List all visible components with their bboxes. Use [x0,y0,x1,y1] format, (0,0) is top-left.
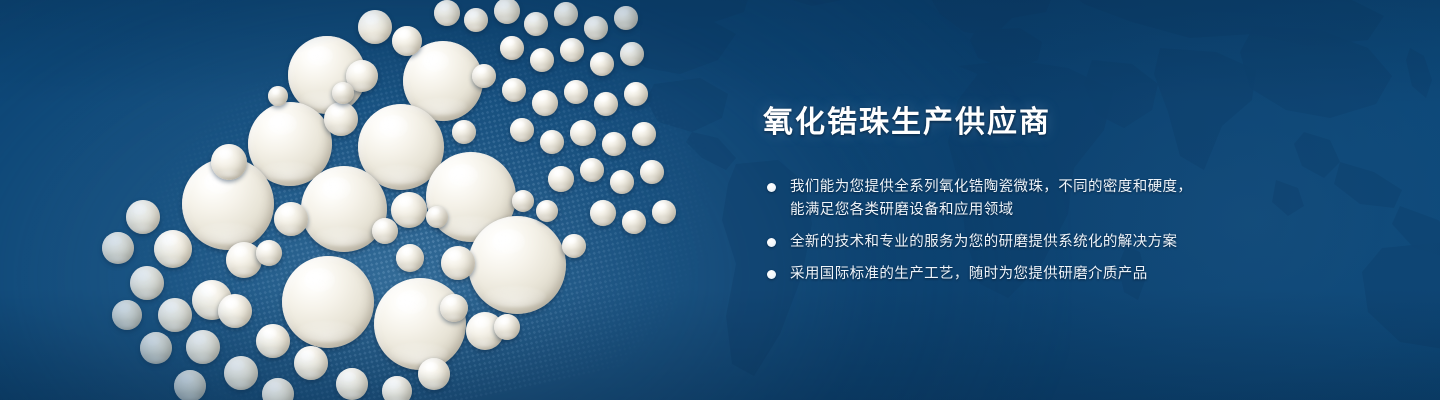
bead-medium [274,202,308,236]
bead-small [472,64,496,88]
bead-small [584,16,608,40]
bead-small [502,78,526,102]
bead-small [372,218,398,244]
list-item-line-1: 采用国际标准的生产工艺，随时为您提供研磨介质产品 [790,266,1148,282]
bead-small [256,240,282,266]
bead-small [294,346,328,380]
bead-small [512,190,534,212]
bead-small [594,92,618,116]
bead-small [560,38,584,62]
bead-medium [441,246,475,280]
bead-small [256,324,290,358]
bead-small [140,332,172,364]
bead-small [510,118,534,142]
bead-small [570,120,596,146]
bead-small [218,294,252,328]
bead-medium [392,26,422,56]
bead-small [540,130,564,154]
bead-medium [154,230,192,268]
bead-small [632,122,656,146]
bead-small [434,0,460,26]
bead-medium [324,102,358,136]
bead-small [564,80,588,104]
bead-small [590,52,614,76]
bead-small [268,86,288,106]
bead-small [112,300,142,330]
bead-small [158,298,192,332]
bead-small [620,42,644,66]
bead-small [186,330,220,364]
bead-cluster [96,0,756,400]
bead-small [500,36,524,60]
bead-small [174,370,206,400]
banner-copy: 氧化锆珠生产供应商 我们能为您提供全系列氧化锆陶瓷微珠，不同的密度和硬度， 能满… [763,104,1383,286]
bead-small [262,378,294,400]
bead-medium [358,10,392,44]
list-item: 全新的技术和专业的服务为您的研磨提供系统化的解决方案 [763,231,1383,254]
bead-small [548,166,574,192]
bead-small [562,234,586,258]
bead-small [536,200,558,222]
bead-small [130,266,164,300]
list-item-line-1: 全新的技术和专业的服务为您的研磨提供系统化的解决方案 [790,234,1177,250]
list-item: 我们能为您提供全系列氧化锆陶瓷微珠，不同的密度和硬度， 能满足您各类研磨设备和应… [763,176,1383,222]
bead-small [580,158,604,182]
bead-small [614,6,638,30]
bead-small [102,232,134,264]
bead-small [224,356,258,390]
bead-small [524,12,548,36]
bead-small [652,200,676,224]
bead-small [396,244,424,272]
bead-small [382,376,412,400]
bead-small [610,170,634,194]
bead-small [452,120,476,144]
feature-list: 我们能为您提供全系列氧化锆陶瓷微珠，不同的密度和硬度， 能满足您各类研磨设备和应… [763,176,1383,286]
bead-small [590,200,616,226]
list-item-line-1: 我们能为您提供全系列氧化锆陶瓷微珠，不同的密度和硬度， [790,179,1192,195]
bead-small [126,200,160,234]
list-item: 采用国际标准的生产工艺，随时为您提供研磨介质产品 [763,263,1383,286]
bullet-dot-icon [767,270,776,279]
bead-small [624,82,648,106]
hero-banner: 氧化锆珠生产供应商 我们能为您提供全系列氧化锆陶瓷微珠，不同的密度和硬度， 能满… [0,0,1440,400]
bead-large [374,278,466,370]
bead-small [464,8,488,32]
bead-large [468,216,566,314]
bead-small [532,90,558,116]
bead-small [494,314,520,340]
bead-small [530,48,554,72]
bead-small [602,132,626,156]
bullet-dot-icon [767,238,776,247]
bullet-dot-icon [767,183,776,192]
bead-small [640,160,664,184]
bead-small [426,206,448,228]
bead-small [494,0,520,24]
list-item-line-2: 能满足您各类研磨设备和应用领域 [790,199,1383,222]
bead-small [440,294,468,322]
bead-small [332,82,354,104]
page-title: 氧化锆珠生产供应商 [763,104,1383,142]
bead-small [336,368,368,400]
bead-small [418,358,450,390]
bead-medium [391,192,427,228]
bead-small [622,210,646,234]
product-photo-zirconia-beads [96,0,756,400]
bead-small [554,2,578,26]
bead-medium [211,144,247,180]
bead-large [282,256,374,348]
